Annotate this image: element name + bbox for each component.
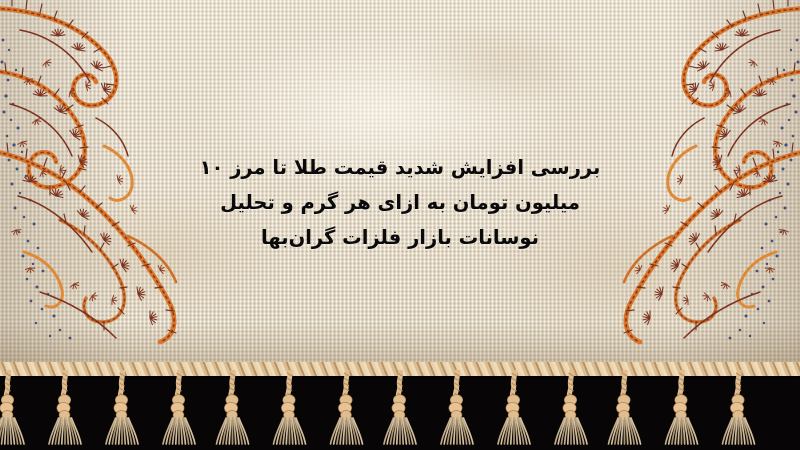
tassel — [494, 370, 534, 450]
banner-image: بررسی افزایش شدید قیمت طلا تا مرز ۱۰ میل… — [0, 0, 800, 450]
tassel — [214, 370, 254, 450]
tassel — [102, 370, 142, 450]
headline-line-3: نوسانات بازار فلزات گران‌بها — [0, 220, 800, 255]
headline-line-1: بررسی افزایش شدید قیمت طلا تا مرز ۱۰ — [0, 150, 800, 185]
tassel-fringe — [0, 370, 800, 450]
tassel — [158, 370, 198, 450]
tassel — [0, 370, 30, 450]
tassel — [550, 370, 590, 450]
tassel — [382, 370, 422, 450]
tassel — [46, 370, 86, 450]
headline: بررسی افزایش شدید قیمت طلا تا مرز ۱۰ میل… — [0, 150, 800, 255]
tassel — [326, 370, 366, 450]
tassel — [606, 370, 646, 450]
tassel — [662, 370, 702, 450]
headline-line-2: میلیون تومان به ازای هر گرم و تحلیل — [0, 185, 800, 220]
tassel — [438, 370, 478, 450]
tassel — [270, 370, 310, 450]
tassel — [718, 370, 758, 450]
